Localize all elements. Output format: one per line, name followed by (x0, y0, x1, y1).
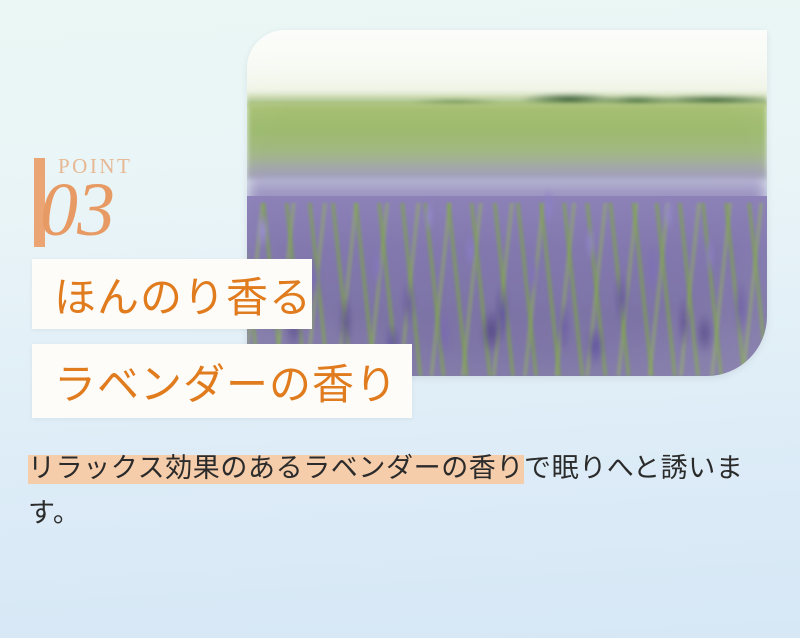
photo-canvas (247, 30, 767, 376)
body-description: リラックス効果のあるラベンダーの香りで眠りへと誘います。 (28, 446, 768, 537)
promo-panel: POINT 03 ほんのり香る ラベンダーの香り リラックス効果のあるラベンダー… (0, 0, 800, 638)
headline-banner-line1: ほんのり香る (32, 259, 312, 329)
body-highlighted-phrase: リラックス効果のあるラベンダーの香り (28, 453, 524, 484)
photo-vignette (247, 30, 767, 376)
point-number: 03 (40, 172, 114, 248)
lavender-field-photo (247, 30, 767, 376)
headline-line1-text: ほんのり香る (54, 264, 312, 325)
headline-banner-line2: ラベンダーの香り (32, 344, 412, 418)
headline-line2-text: ラベンダーの香り (54, 351, 398, 412)
